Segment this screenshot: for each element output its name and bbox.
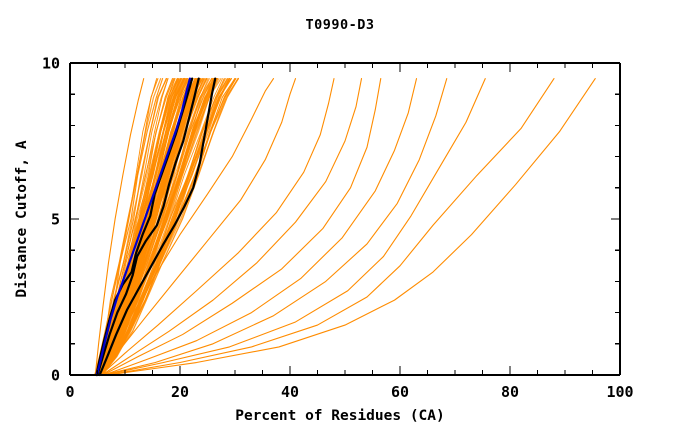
y-tick-label: 0 (51, 367, 60, 385)
chart-title: T0990-D3 (305, 17, 374, 33)
y-tick-label: 10 (42, 55, 60, 73)
chart-root: T0990-D3 020406080100 0510 Percent of Re… (0, 0, 680, 440)
x-tick-label: 60 (391, 383, 409, 401)
y-axis-title: Distance Cutoff, A (14, 140, 30, 297)
x-tick-label: 0 (65, 383, 74, 401)
y-tick-label: 5 (51, 211, 60, 229)
x-tick-label: 80 (501, 383, 519, 401)
x-tick-label: 100 (606, 383, 633, 401)
x-tick-label: 40 (281, 383, 299, 401)
distance-cutoff-plot: T0990-D3 020406080100 0510 Percent of Re… (0, 0, 680, 440)
x-axis-title: Percent of Residues (CA) (235, 408, 445, 424)
x-tick-label: 20 (171, 383, 189, 401)
